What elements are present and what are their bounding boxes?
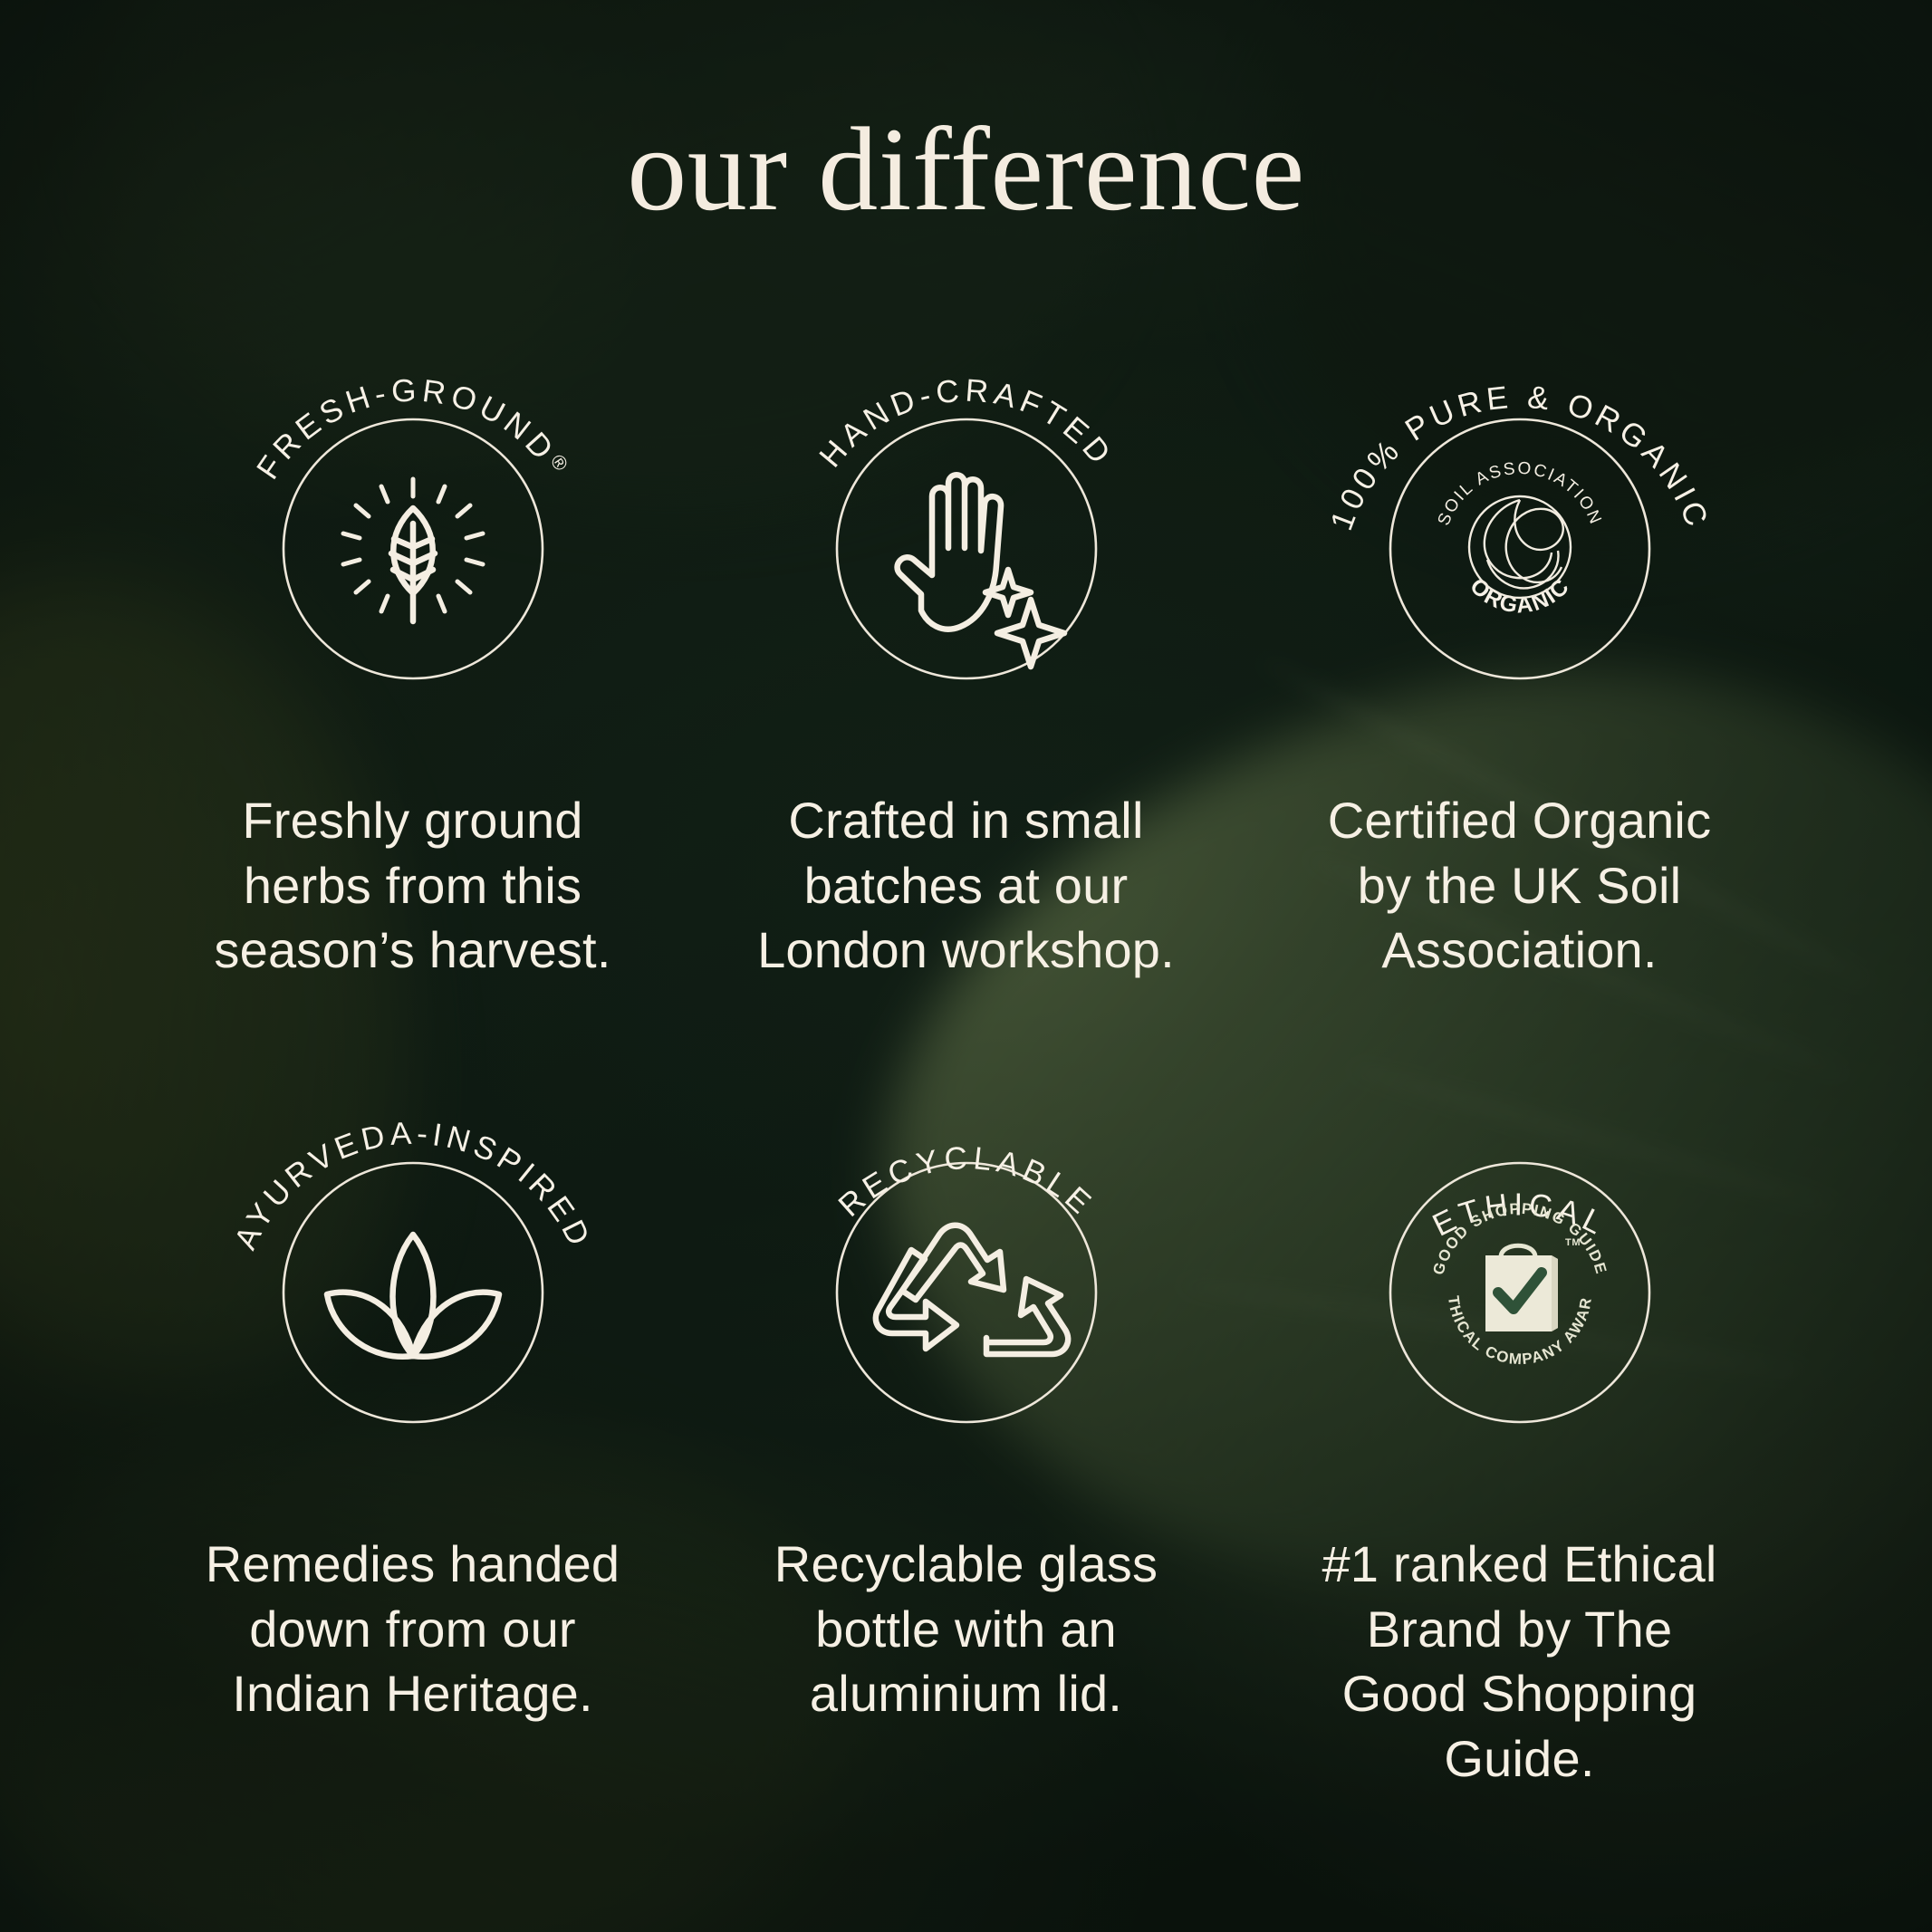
hand-with-sparkles-icon <box>897 475 1063 667</box>
benefit-card-recyclable: RECYCLABLE Recyclable glass bottle with … <box>689 1066 1243 1792</box>
benefit-card-ayurveda-inspired: AYURVEDA-INSPIRED Remedies handed down f… <box>136 1066 689 1792</box>
badge-fresh-ground: FRESH-GROUND® <box>200 322 626 748</box>
benefit-caption: Freshly ground herbs from this season’s … <box>200 788 626 983</box>
benefit-card-hand-crafted: HAND-CRAFTED Crafted in small batches at… <box>689 322 1243 983</box>
badge-ring <box>284 1163 543 1422</box>
badge-arc-text: 100% PURE & ORGANIC <box>1323 380 1716 535</box>
badge-hand-crafted: HAND-CRAFTED <box>754 322 1179 748</box>
content-layer: our difference FRESH-GROUND® <box>0 0 1932 1932</box>
badge-ayurveda-inspired: AYURVEDA-INSPIRED <box>200 1066 626 1492</box>
benefit-card-pure-organic: 100% PURE & ORGANIC SOIL ASSOCIATION ORG… <box>1243 322 1796 983</box>
trademark-mark-icon: TM <box>1565 1237 1581 1248</box>
badge-pure-organic: 100% PURE & ORGANIC SOIL ASSOCIATION ORG… <box>1307 322 1733 748</box>
badge-ethical: ETHICAL GOOD SHOPPING GUIDE ETHICAL COMP… <box>1307 1066 1733 1492</box>
benefit-card-fresh-ground: FRESH-GROUND® <box>136 322 689 983</box>
benefit-caption: Certified Organic by the UK Soil Associa… <box>1307 788 1733 983</box>
badge-arc-label: FRESH-GROUND® <box>249 373 574 486</box>
badge-ring <box>1390 419 1649 678</box>
leaf-with-rays-icon <box>343 479 483 621</box>
our-difference-panel: our difference FRESH-GROUND® <box>0 0 1932 1932</box>
badge-arc-label: RECYCLABLE <box>831 1140 1101 1224</box>
soil-association-organic-icon: SOIL ASSOCIATION ORGANIC <box>1434 459 1605 619</box>
badge-arc-text: RECYCLABLE <box>831 1140 1101 1224</box>
recycling-arrows-icon <box>875 1226 1067 1354</box>
badge-arc-label: 100% PURE & ORGANIC <box>1323 380 1716 535</box>
page-title: our difference <box>0 107 1932 233</box>
benefits-grid: FRESH-GROUND® <box>136 322 1796 1792</box>
badge-arc-text: HAND-CRAFTED <box>812 372 1120 474</box>
badge-recyclable: RECYCLABLE <box>754 1066 1179 1492</box>
benefit-card-ethical: ETHICAL GOOD SHOPPING GUIDE ETHICAL COMP… <box>1243 1066 1796 1792</box>
benefit-caption: #1 ranked Ethical Brand by The Good Shop… <box>1307 1532 1733 1792</box>
lotus-leaf-icon <box>327 1235 499 1357</box>
benefit-caption: Crafted in small batches at our London w… <box>754 788 1179 983</box>
benefit-caption: Recyclable glass bottle with an aluminiu… <box>754 1532 1179 1726</box>
badge-arc-label: HAND-CRAFTED <box>812 372 1120 474</box>
benefit-caption: Remedies handed down from our Indian Her… <box>200 1532 626 1726</box>
